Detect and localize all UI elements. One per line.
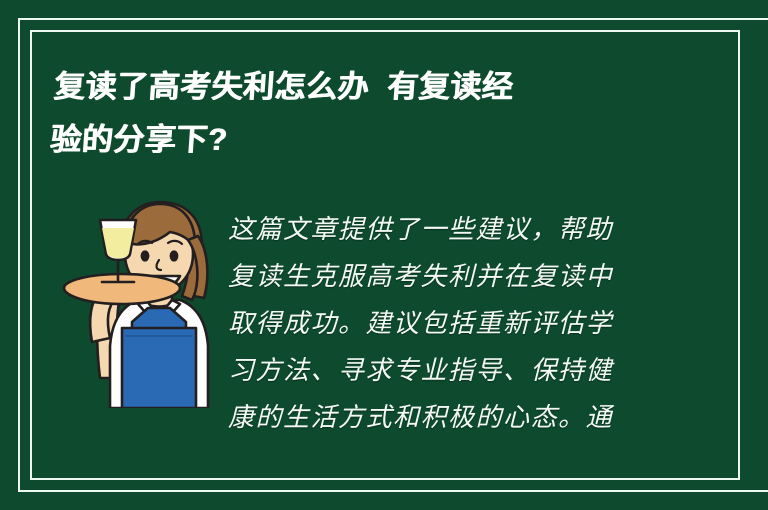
page-title: 复读了高考失利怎么办 有复读经 验的分享下? [48, 60, 675, 167]
waitress-illustration [62, 196, 222, 408]
eye-left [141, 250, 150, 261]
body-line: 取得成功。建议包括重新评估学 [228, 300, 658, 347]
apron-skirt [122, 328, 196, 408]
poster-canvas: 复读了高考失利怎么办 有复读经 验的分享下? [0, 0, 768, 510]
body-line: 习方法、寻求专业指导、保持健 [228, 347, 658, 394]
body-line: 复读生克服高考失利并在复读中 [228, 253, 658, 300]
body-line: 康的生活方式和积极的心态。通 [228, 394, 658, 441]
body-text-block: 这篇文章提供了一些建议，帮助 复读生克服高考失利并在复读中 取得成功。建议包括重… [228, 206, 658, 468]
body-line: 这篇文章提供了一些建议，帮助 [228, 206, 658, 253]
eye-right [170, 250, 179, 261]
